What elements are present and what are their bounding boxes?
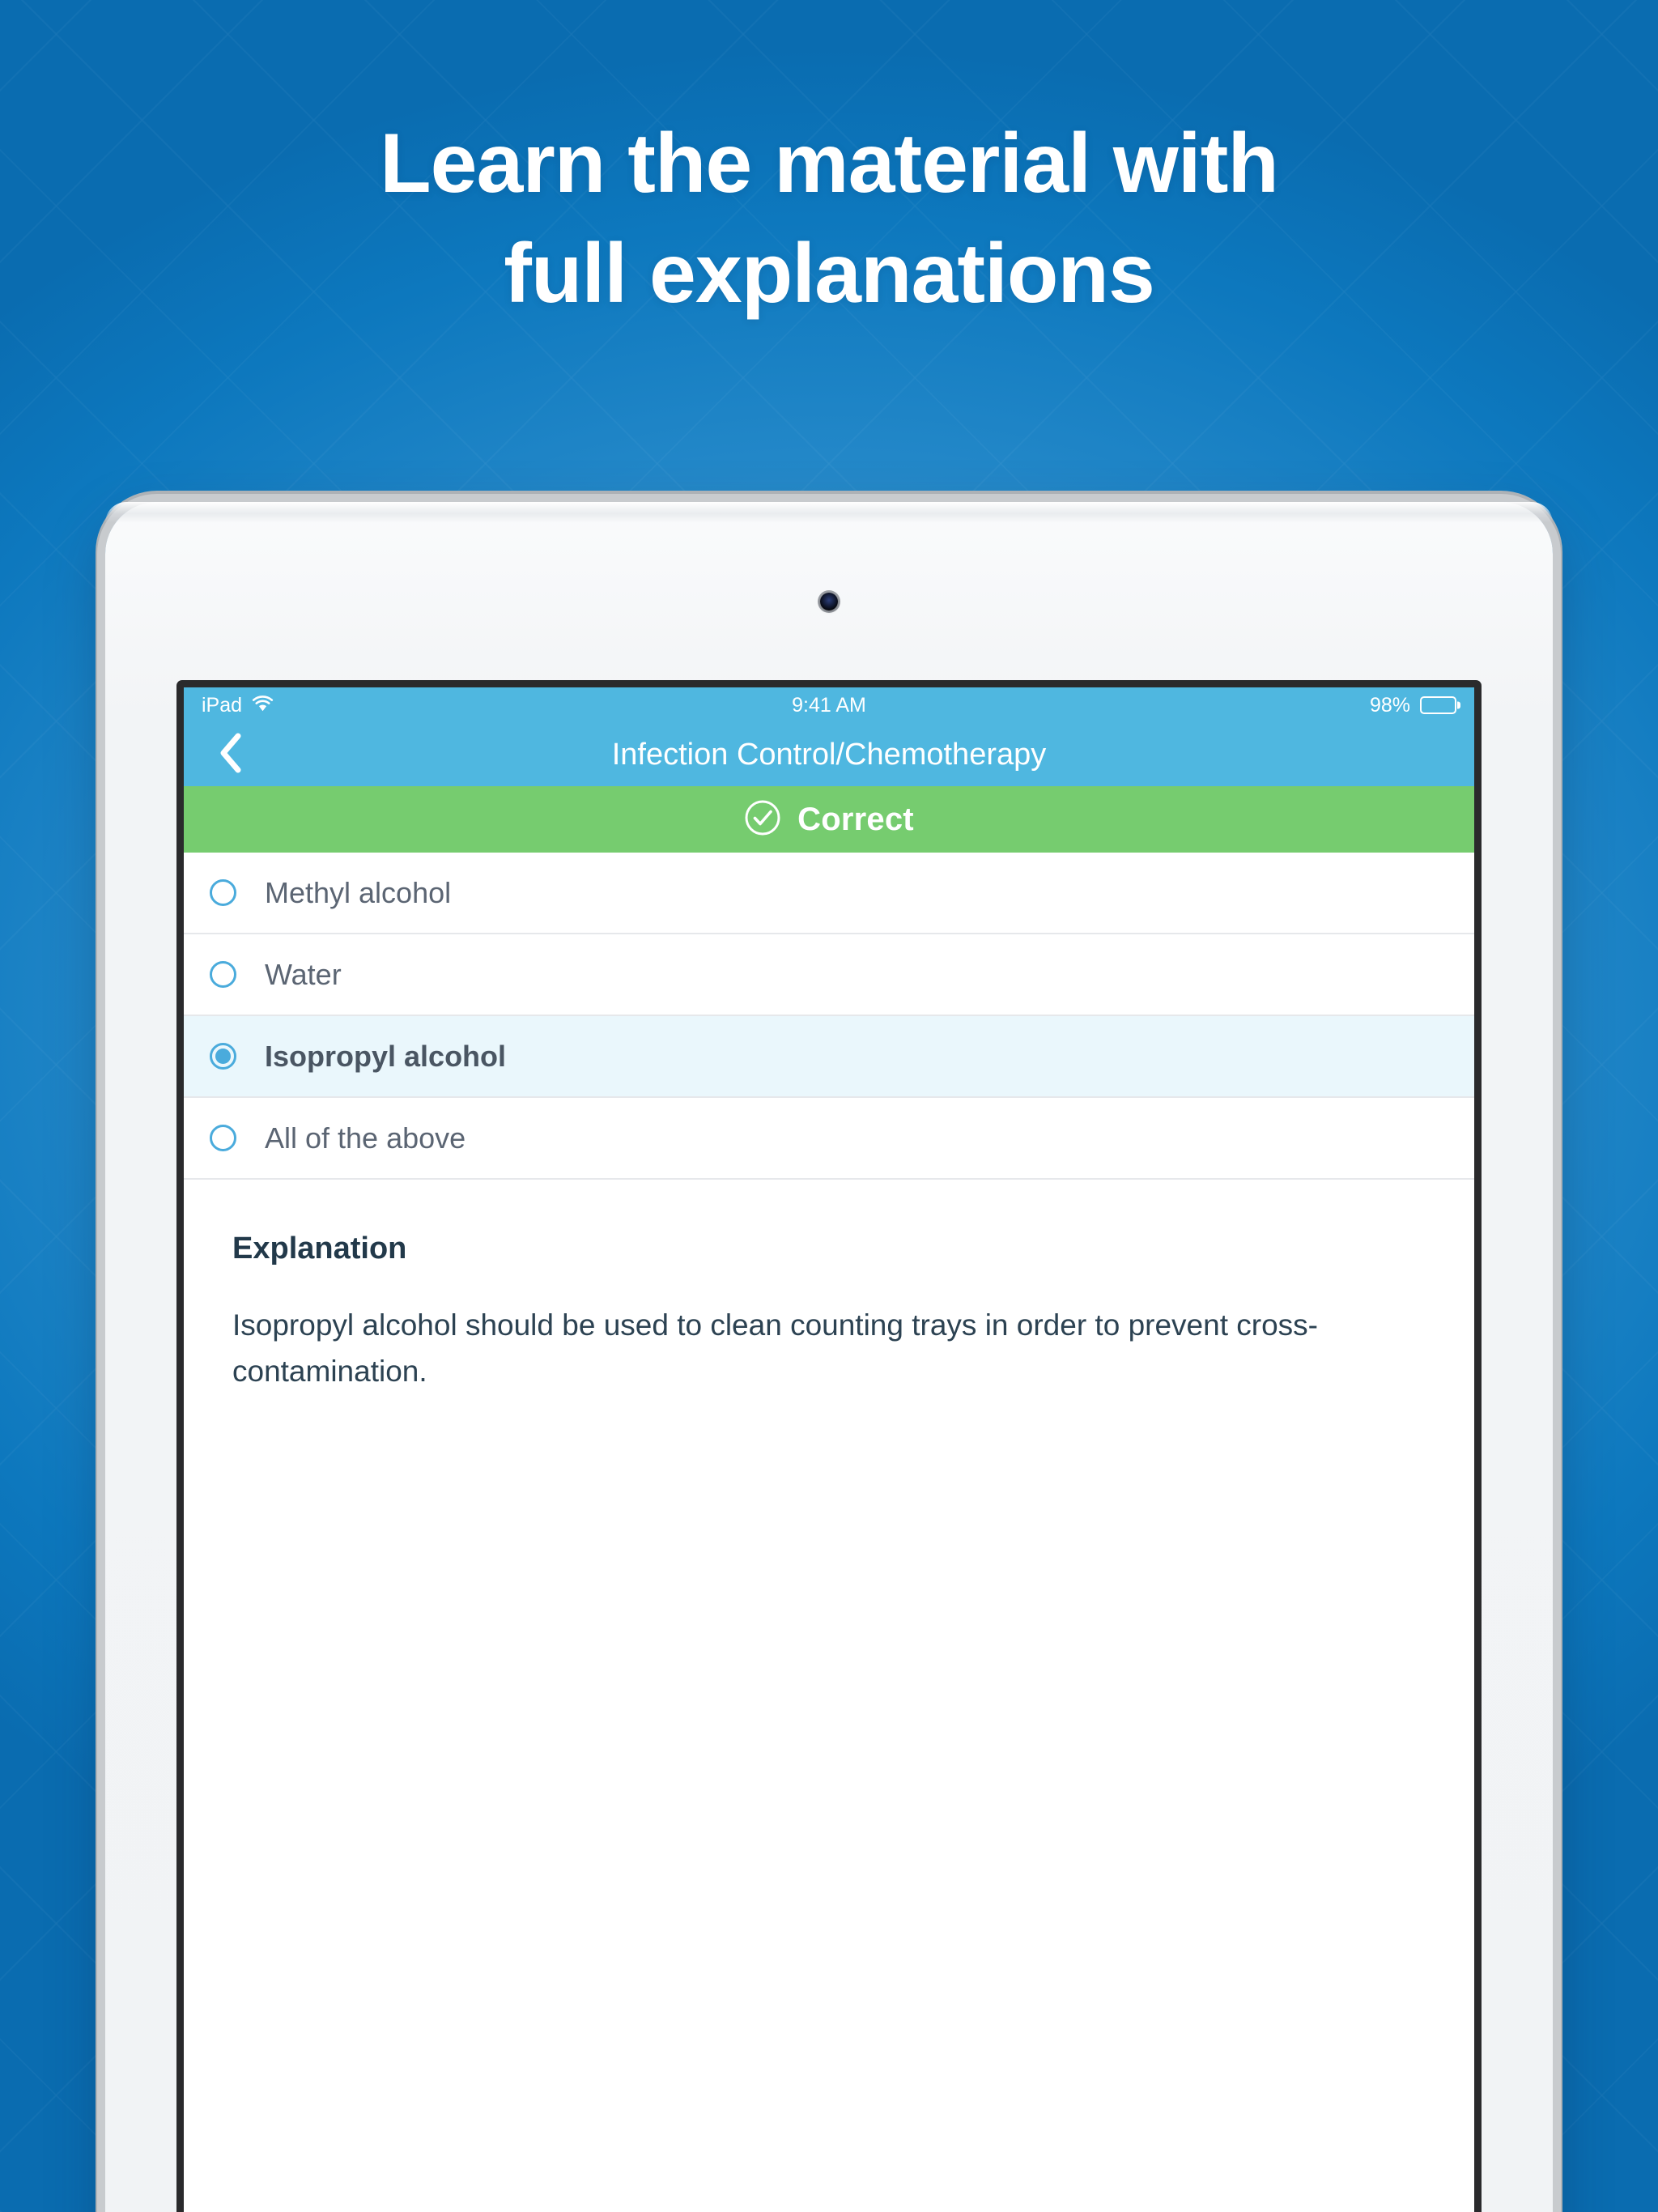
explanation-body: Isopropyl alcohol should be used to clea… — [232, 1302, 1382, 1395]
marketing-headline: Learn the material with full explanation… — [0, 121, 1658, 316]
battery-percent-label: 98% — [1370, 694, 1410, 717]
status-bar: iPad 9:41 AM 98% — [184, 687, 1474, 723]
device-top-rim — [105, 502, 1553, 523]
wifi-icon — [252, 694, 274, 717]
answer-option-label: Isopropyl alcohol — [265, 1040, 506, 1074]
answer-option-row[interactable]: Methyl alcohol — [184, 853, 1474, 934]
radio-selected-icon — [210, 1043, 236, 1070]
radio-dot — [215, 1049, 231, 1064]
explanation-heading: Explanation — [232, 1231, 1426, 1266]
answer-option-row-selected[interactable]: Isopropyl alcohol — [184, 1016, 1474, 1098]
answer-option-label: Methyl alcohol — [265, 876, 451, 910]
check-circle-icon — [744, 799, 781, 840]
answer-options-list: Methyl alcohol Water Isopropyl alcohol — [184, 853, 1474, 1180]
app-screen: iPad 9:41 AM 98% — [184, 687, 1474, 2212]
radio-unselected-icon — [210, 1125, 236, 1151]
chevron-left-icon — [219, 733, 243, 777]
headline-line-1: Learn the material with — [0, 121, 1658, 206]
carrier-label: iPad — [202, 694, 242, 717]
battery-icon — [1420, 696, 1456, 714]
ipad-device-frame: iPad 9:41 AM 98% — [105, 502, 1553, 2212]
device-bezel: iPad 9:41 AM 98% — [176, 680, 1482, 2212]
headline-line-2: full explanations — [0, 232, 1658, 316]
status-bar-right: 98% — [866, 694, 1456, 717]
page-title: Infection Control/Chemotherapy — [184, 738, 1474, 772]
status-bar-time: 9:41 AM — [792, 694, 866, 717]
answer-option-label: All of the above — [265, 1121, 466, 1155]
result-banner-label: Correct — [797, 802, 914, 838]
result-banner: Correct — [184, 786, 1474, 853]
answer-option-label: Water — [265, 958, 342, 992]
navigation-bar: Infection Control/Chemotherapy — [184, 723, 1474, 786]
answer-option-row[interactable]: All of the above — [184, 1098, 1474, 1180]
back-button[interactable] — [208, 732, 253, 777]
radio-unselected-icon — [210, 879, 236, 906]
status-bar-left: iPad — [202, 694, 792, 717]
app-store-screenshot: Learn the material with full explanation… — [0, 0, 1658, 2212]
answer-option-row[interactable]: Water — [184, 934, 1474, 1016]
radio-unselected-icon — [210, 961, 236, 988]
camera-dot-icon — [820, 593, 838, 610]
explanation-section: Explanation Isopropyl alcohol should be … — [184, 1180, 1474, 1395]
